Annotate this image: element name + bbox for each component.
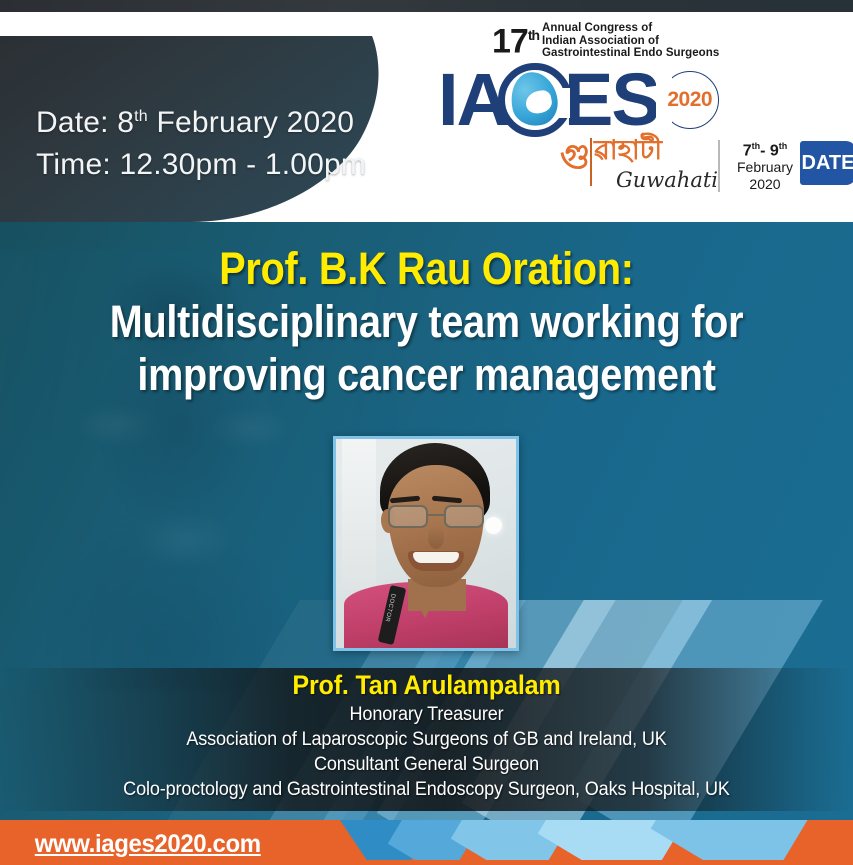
title-line-1: Multidisciplinary team working for (51, 295, 802, 348)
event-month: February (732, 159, 798, 176)
time-value: 12.30pm - 1.00pm (119, 148, 366, 181)
glasses-bridge (428, 514, 444, 516)
photo-teeth (413, 552, 459, 563)
title-line-2: improving cancer management (51, 348, 802, 401)
speaker-credential: Honorary Treasurer (21, 702, 831, 727)
speaker-details: Prof. Tan Arulampalam Honorary Treasurer… (0, 668, 853, 802)
speaker-credential: Colo-proctology and Gastrointestinal End… (21, 777, 831, 802)
footer-bottom-edge (0, 860, 853, 865)
iages-logo-lockup: 17th Annual Congress of Indian Associati… (430, 12, 853, 222)
event-year: 2020 (732, 176, 798, 193)
footer-stripe-pattern (300, 820, 853, 865)
speaker-photo (333, 436, 519, 651)
conference-announcement-poster: Date: 8th February 2020 Time: 12.30pm - … (0, 0, 853, 865)
event-day-range: 7th- 9th (732, 138, 798, 159)
city-name-english: Guwahati (616, 168, 718, 192)
photo-nose (428, 527, 444, 549)
assamese-glyph-icon: গু (560, 140, 590, 174)
speaker-credential: Consultant General Surgeon (21, 752, 831, 777)
photo-glasses-icon (386, 505, 486, 529)
glasses-lens-right (444, 505, 484, 528)
congress-line-1: Annual Congress of (542, 22, 719, 35)
website-link[interactable]: www.iages2020.com (35, 830, 261, 859)
year-text: 2020 (667, 88, 712, 112)
logo-date-divider (718, 140, 720, 192)
datetime-text: Date: 8th February 2020 Time: 12.30pm - … (36, 96, 366, 186)
oration-title: Prof. B.K Rau Oration: (51, 243, 802, 295)
year-badge: 2020 (661, 71, 719, 129)
guwahati-city-lockup: গু ৱাহাটী Guwahati (560, 136, 740, 198)
date-rest: February 2020 (156, 106, 354, 139)
congress-line-2: Indian Association of (542, 35, 719, 48)
photo-smile (408, 551, 464, 571)
wordmark-suffix: ES (564, 64, 659, 136)
speaker-credential: Association of Laparoscopic Surgeons of … (21, 727, 831, 752)
photo-wall (342, 439, 376, 589)
congress-text: Annual Congress of Indian Association of… (542, 22, 719, 60)
lecture-title: Prof. B.K Rau Oration: Multidisciplinary… (0, 243, 853, 401)
date-day: 8 (117, 106, 134, 139)
congress-tagline: 17th Annual Congress of Indian Associati… (492, 20, 719, 60)
edition-number: 17th (492, 20, 539, 56)
date-row: Date: 8th February 2020 (36, 96, 366, 144)
top-accent-strip (0, 0, 853, 12)
event-dates-text: 7th- 9th February 2020 (732, 138, 798, 193)
date-ordinal: th (134, 108, 148, 125)
footer-bar: www.iages2020.com (0, 820, 853, 865)
date-label: Date: (36, 106, 109, 139)
city-name-assamese: ৱাহাটী (594, 136, 662, 166)
time-label: Time: (36, 148, 111, 181)
date-badge-label: DATE (802, 152, 853, 175)
date-badge: DATE (800, 141, 853, 185)
photo-light-spot (485, 517, 502, 534)
stomach-g-icon (498, 63, 572, 137)
edition-ordinal: th (528, 27, 539, 43)
glasses-lens-left (388, 505, 428, 528)
iages-wordmark: IA ES 2020 (438, 64, 719, 136)
time-row: Time: 12.30pm - 1.00pm (36, 144, 366, 186)
stripe (651, 820, 840, 865)
guwahati-divider (590, 138, 592, 186)
speaker-name: Prof. Tan Arulampalam (30, 668, 823, 702)
